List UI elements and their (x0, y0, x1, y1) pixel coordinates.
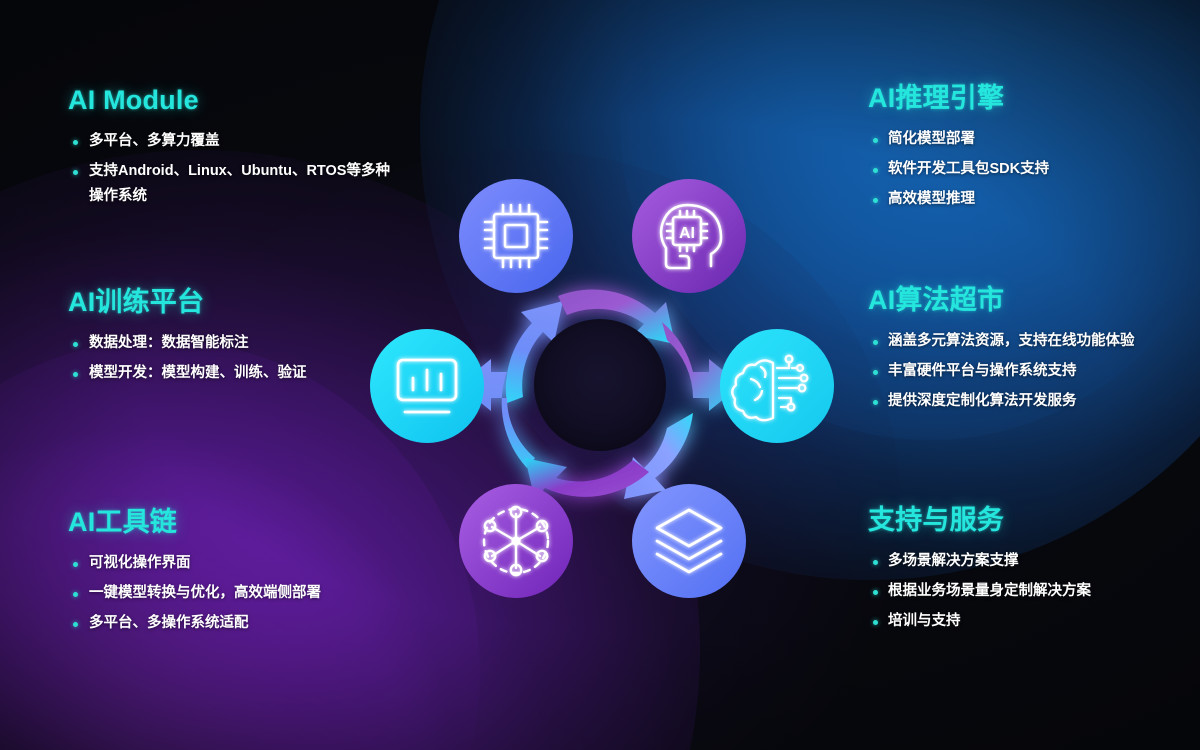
list-item: 多平台、多操作系统适配 (68, 611, 448, 636)
section-ai-inference-engine: AI推理引擎 简化模型部署 软件开发工具包SDK支持 高效模型推理 (868, 84, 1049, 217)
list-item: 软件开发工具包SDK支持 (868, 157, 1049, 182)
list-item: 根据业务场景量身定制解决方案 (868, 579, 1178, 604)
section-ai-algorithm-market: AI算法超市 涵盖多元算法资源，支持在线功能体验 丰富硬件平台与操作系统支持 提… (868, 286, 1168, 419)
cycle-core (534, 319, 666, 451)
list-item: 支持Android、Linux、Ubuntu、RTOS等多种操作系统 (68, 159, 398, 209)
list-item: 提供深度定制化算法开发服务 (868, 389, 1168, 414)
list-item: 多平台、多算力覆盖 (68, 129, 398, 154)
node-ai-head[interactable]: AI (632, 179, 746, 293)
list-item: 简化模型部署 (868, 127, 1049, 152)
bullet-list: 多平台、多算力覆盖 支持Android、Linux、Ubuntu、RTOS等多种… (68, 129, 398, 210)
node-layers[interactable] (632, 484, 746, 598)
node-network[interactable] (459, 484, 573, 598)
section-ai-module: AI Module 多平台、多算力覆盖 支持Android、Linux、Ubun… (68, 86, 398, 214)
bullet-list: 数据处理：数据智能标注 模型开发：模型构建、训练、验证 (68, 331, 368, 386)
section-support-and-service: 支持与服务 多场景解决方案支撑 根据业务场景量身定制解决方案 培训与支持 (868, 506, 1178, 639)
list-item: 数据处理：数据智能标注 (68, 331, 368, 356)
bullet-list: 多场景解决方案支撑 根据业务场景量身定制解决方案 培训与支持 (868, 549, 1178, 635)
node-chip[interactable] (459, 179, 573, 293)
node-monitor[interactable] (370, 329, 484, 443)
list-item: 高效模型推理 (868, 187, 1049, 212)
section-title: AI训练平台 (68, 288, 368, 318)
section-title: AI算法超市 (868, 286, 1168, 316)
section-title: AI推理引擎 (868, 84, 1049, 114)
svg-text:AI: AI (679, 225, 695, 242)
list-item: 多场景解决方案支撑 (868, 549, 1178, 574)
list-item: 模型开发：模型构建、训练、验证 (68, 361, 368, 386)
node-brain[interactable] (720, 329, 834, 443)
section-title: AI Module (68, 86, 398, 116)
list-item: 丰富硬件平台与操作系统支持 (868, 359, 1168, 384)
list-item: 培训与支持 (868, 609, 1178, 634)
section-ai-training-platform: AI训练平台 数据处理：数据智能标注 模型开发：模型构建、训练、验证 (68, 288, 368, 391)
section-title: 支持与服务 (868, 506, 1178, 536)
list-item: 涵盖多元算法资源，支持在线功能体验 (868, 329, 1168, 354)
center-cycle-diagram: AI (355, 160, 845, 610)
bullet-list: 简化模型部署 软件开发工具包SDK支持 高效模型推理 (868, 127, 1049, 213)
bullet-list: 涵盖多元算法资源，支持在线功能体验 丰富硬件平台与操作系统支持 提供深度定制化算… (868, 329, 1168, 415)
right-content-column: AI推理引擎 简化模型部署 软件开发工具包SDK支持 高效模型推理 AI算法超市… (840, 0, 1200, 750)
